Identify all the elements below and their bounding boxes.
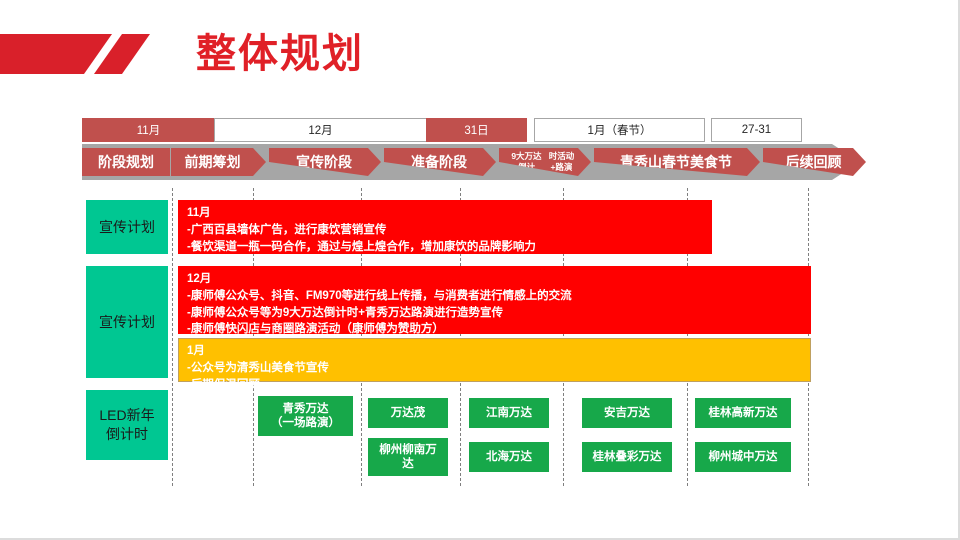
led-venue-box[interactable]: 青秀万达（一场路演） <box>258 396 353 436</box>
gridline-dashed <box>172 188 173 486</box>
timeline-stage-chevron[interactable]: 阶段规划 <box>82 148 170 176</box>
led-venue-label-line: （一场路演） <box>271 416 340 430</box>
row-label-line: 倒计时 <box>99 425 154 444</box>
content-block-november: 11月 -广西百县墙体广告，进行康饮营销宣传-餐饮渠道一瓶一码合作，通过与煌上煌… <box>178 200 712 254</box>
led-venue-box[interactable]: 柳州柳南万达 <box>368 438 448 476</box>
stage-label-line: 前期筹划 <box>185 155 241 170</box>
led-venue-box[interactable]: 桂林叠彩万达 <box>582 442 672 472</box>
led-venue-box[interactable]: 北海万达 <box>469 442 549 472</box>
block-heading: 12月 <box>187 271 802 287</box>
block-lines: -公众号为清秀山美食节宣传-后期保温回顾 <box>187 360 802 393</box>
stage-label-line: 后续回顾 <box>786 155 842 170</box>
timeline-stage-band: 阶段规划前期筹划宣传阶段准备阶段9大万达倒计时活动+路演青秀山春节美食节后续回顾 <box>82 144 860 180</box>
led-venue-box[interactable]: 江南万达 <box>469 398 549 428</box>
slide-canvas: 整体规划 11月12月31日1月（春节）27-31 阶段规划前期筹划宣传阶段准备… <box>0 0 960 540</box>
timeline-stage-chevron[interactable]: 9大万达倒计时活动+路演 <box>499 148 591 176</box>
stage-label-line: 阶段规划 <box>98 155 154 170</box>
block-lines: -广西百县墙体广告，进行康饮营销宣传-餐饮渠道一瓶一码合作，通过与煌上煌合作，增… <box>187 222 703 255</box>
logo-parallelogram-icon <box>0 28 180 80</box>
block-line: -康师傅公众号等为9大万达倒计时+青秀万达路演进行造势宣传 <box>187 305 802 321</box>
led-venue-label-line: 万达茂 <box>391 406 426 420</box>
block-line: -餐饮渠道一瓶一码合作，通过与煌上煌合作，增加康饮的品牌影响力 <box>187 239 703 255</box>
timeline-stage-chevron[interactable]: 青秀山春节美食节 <box>594 148 760 176</box>
led-venue-label-line: 江南万达 <box>486 406 532 420</box>
block-line: -后期保温回顾 <box>187 377 802 393</box>
stage-label-line: 9大万达倒计 <box>509 151 544 172</box>
page-title: 整体规划 <box>196 28 364 80</box>
timeline-stage-chevron[interactable]: 后续回顾 <box>763 148 866 176</box>
block-line: -康师傅公众号、抖音、FM970等进行线上传播，与消费者进行情感上的交流 <box>187 288 802 304</box>
led-venue-label-line: 桂林高新万达 <box>709 406 778 420</box>
logo-mark <box>0 28 180 80</box>
block-line: -康师傅快闪店与商圈路演活动（康师傅为赞助方） <box>187 321 802 337</box>
row-label-promo-plan-1: 宣传计划 <box>86 200 168 254</box>
timeline-stage-chevron[interactable]: 准备阶段 <box>384 148 496 176</box>
block-lines: -康师傅公众号、抖音、FM970等进行线上传播，与消费者进行情感上的交流-康师傅… <box>187 288 802 337</box>
stage-label-line: 时活动+路演 <box>544 151 579 172</box>
row-label-line: LED新年 <box>99 406 154 425</box>
timeline-month-cell[interactable]: 11月 <box>82 118 215 142</box>
led-venue-label-line: 柳州城中万达 <box>709 450 778 464</box>
row-label-led-countdown: LED新年倒计时 <box>86 390 168 460</box>
block-line: -公众号为清秀山美食节宣传 <box>187 360 802 376</box>
led-venue-label-line: 桂林叠彩万达 <box>593 450 662 464</box>
row-label-line: 宣传计划 <box>99 218 155 237</box>
timeline-month-cell[interactable]: 1月（春节） <box>534 118 705 142</box>
led-venue-box[interactable]: 桂林高新万达 <box>695 398 791 428</box>
row-label-line: 宣传计划 <box>99 313 155 332</box>
timeline-month-cell[interactable]: 27-31 <box>711 118 802 142</box>
block-line: -广西百县墙体广告，进行康饮营销宣传 <box>187 222 703 238</box>
led-venue-label-line: 北海万达 <box>486 450 532 464</box>
led-venue-label-line: 青秀万达 <box>271 402 340 416</box>
row-label-promo-plan-2: 宣传计划 <box>86 266 168 378</box>
stage-chevron-row: 阶段规划前期筹划宣传阶段准备阶段9大万达倒计时活动+路演青秀山春节美食节后续回顾 <box>82 148 860 176</box>
block-heading: 1月 <box>187 343 802 359</box>
led-venue-box[interactable]: 安吉万达 <box>582 398 672 428</box>
block-heading: 11月 <box>187 205 703 221</box>
led-venue-label-line: 安吉万达 <box>604 406 650 420</box>
timeline-stage-chevron[interactable]: 宣传阶段 <box>269 148 381 176</box>
led-venue-label-line: 达 <box>379 457 437 471</box>
led-venue-box[interactable]: 柳州城中万达 <box>695 442 791 472</box>
gridline-dashed <box>808 188 809 486</box>
led-venue-box[interactable]: 万达茂 <box>368 398 448 428</box>
stage-label-line: 宣传阶段 <box>296 155 352 170</box>
timeline-stage-chevron[interactable]: 前期筹划 <box>171 148 266 176</box>
stage-label-line: 青秀山春节美食节 <box>620 155 732 170</box>
timeline: 11月12月31日1月（春节）27-31 阶段规划前期筹划宣传阶段准备阶段9大万… <box>82 118 860 180</box>
content-block-january: 1月 -公众号为清秀山美食节宣传-后期保温回顾 <box>178 338 811 382</box>
led-venue-label-line: 柳州柳南万 <box>379 443 437 457</box>
stage-label-line: 准备阶段 <box>411 155 467 170</box>
content-block-december: 12月 -康师傅公众号、抖音、FM970等进行线上传播，与消费者进行情感上的交流… <box>178 266 811 334</box>
timeline-month-row: 11月12月31日1月（春节）27-31 <box>82 118 860 142</box>
timeline-month-cell[interactable]: 12月 <box>214 118 427 142</box>
timeline-month-cell[interactable]: 31日 <box>426 118 527 142</box>
